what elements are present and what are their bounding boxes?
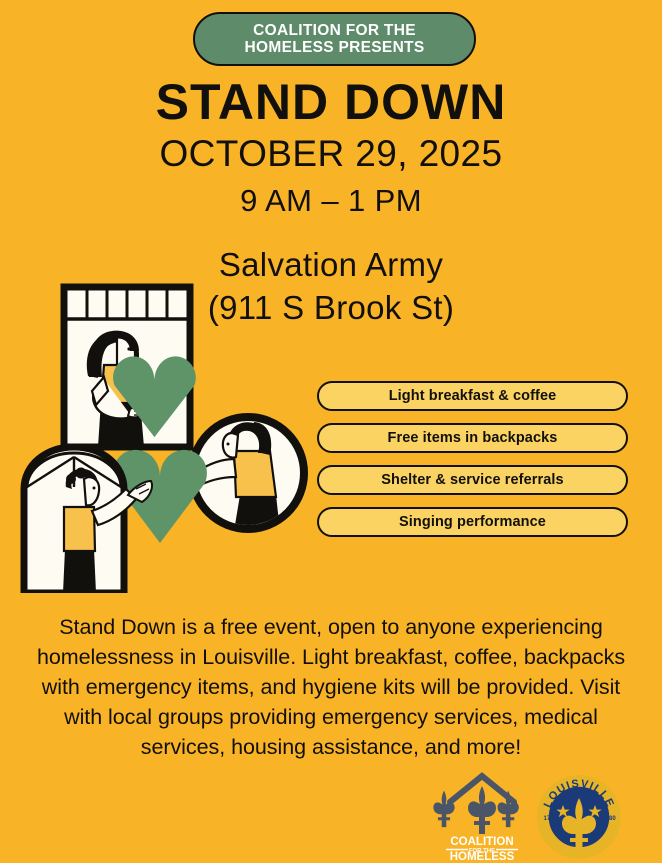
event-date: OCTOBER 29, 2025 bbox=[0, 130, 662, 178]
fleur-de-lis-right-icon bbox=[498, 791, 519, 827]
coalition-logo-line-1: COALITION bbox=[450, 836, 513, 848]
event-time: 9 AM – 1 PM bbox=[0, 178, 662, 224]
feature-pill-label: Shelter & service referrals bbox=[381, 472, 563, 488]
body-paragraph: Stand Down is a free event, open to anyo… bbox=[28, 612, 634, 762]
community-illustration bbox=[18, 281, 318, 593]
feature-pill-singing: Singing performance bbox=[317, 507, 628, 537]
coalition-for-the-homeless-logo: COALITION FOR THE HOMELESS bbox=[432, 772, 532, 860]
feature-pill-label: Free items in backpacks bbox=[388, 430, 558, 446]
presenter-badge: COALITION FOR THE HOMELESS PRESENTS bbox=[193, 12, 476, 66]
louisville-jefferson-county-seal: LOUISVILLE JEFFERSON COUNTY 17 80 bbox=[536, 774, 622, 860]
seal-right-year: 80 bbox=[609, 816, 616, 822]
seal-left-year: 17 bbox=[544, 816, 551, 822]
feature-pill-breakfast: Light breakfast & coffee bbox=[317, 381, 628, 411]
feature-pill-backpacks: Free items in backpacks bbox=[317, 423, 628, 453]
feature-pill-referrals: Shelter & service referrals bbox=[317, 465, 628, 495]
venue-name: Salvation Army bbox=[0, 243, 662, 286]
presenter-badge-line-2: HOMELESS PRESENTS bbox=[245, 39, 425, 56]
presenter-badge-line-1: COALITION FOR THE bbox=[245, 22, 425, 39]
event-title: STAND DOWN bbox=[0, 74, 662, 130]
presenter-badge-text: COALITION FOR THE HOMELESS PRESENTS bbox=[245, 22, 425, 56]
flyer-canvas: COALITION FOR THE HOMELESS PRESENTS STAN… bbox=[0, 0, 662, 863]
footer-logos: COALITION FOR THE HOMELESS bbox=[432, 772, 638, 860]
fleur-de-lis-left-icon bbox=[433, 791, 454, 827]
title-block: STAND DOWN OCTOBER 29, 2025 9 AM – 1 PM bbox=[0, 74, 662, 224]
feature-pill-label: Light breakfast & coffee bbox=[389, 388, 557, 404]
feature-pill-label: Singing performance bbox=[399, 514, 546, 530]
coalition-logo-line-3: HOMELESS bbox=[450, 851, 515, 860]
feature-list: Light breakfast & coffee Free items in b… bbox=[317, 381, 628, 549]
fleur-de-lis-center-icon bbox=[468, 786, 496, 834]
